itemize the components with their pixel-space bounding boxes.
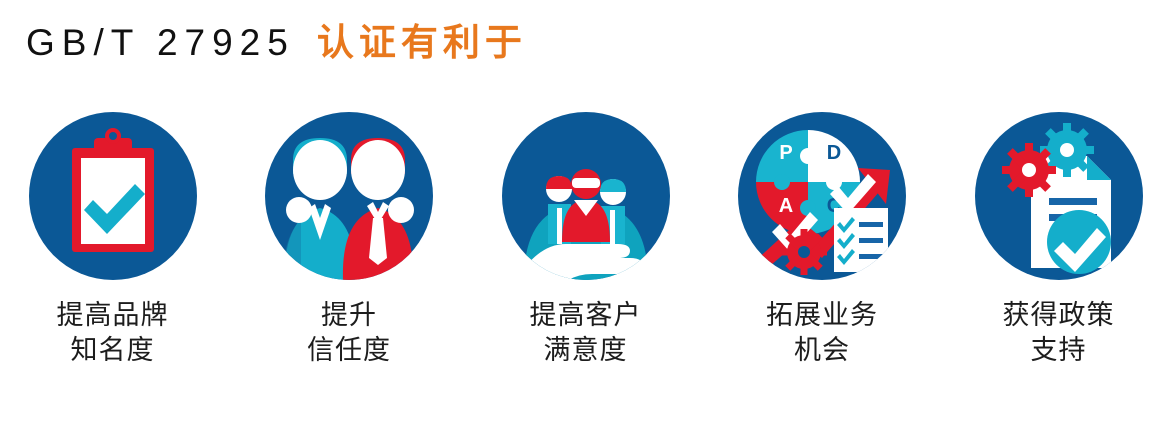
pdca-growth-chart-icon: P D A C (738, 112, 906, 280)
benefit-item-policy-support[interactable]: 获得政策 支持 (966, 112, 1151, 367)
benefit-item-brand-awareness[interactable]: 提高品牌 知名度 (20, 112, 205, 367)
pdca-letter-d: D (827, 142, 841, 164)
benefit-label: 提高品牌 知名度 (57, 298, 169, 367)
title-standard-number: GB/T 27925 (26, 22, 295, 64)
benefit-item-customer-satisfaction[interactable]: 提高客户 满意度 (493, 112, 678, 367)
benefit-label: 提升 信任度 (307, 298, 391, 367)
benefit-item-trust[interactable]: 提升 信任度 (257, 112, 442, 367)
title-accent-text: 认证有利于 (317, 12, 527, 66)
pdca-letter-a: A (779, 195, 793, 217)
benefit-label: 提高客户 满意度 (530, 298, 642, 367)
document-gears-check-icon (975, 112, 1143, 280)
benefits-row: 提高品牌 知名度 (0, 112, 1171, 367)
hand-holding-people-icon (502, 112, 670, 280)
benefit-label: 拓展业务 机会 (766, 298, 878, 367)
benefit-label: 获得政策 支持 (1003, 298, 1115, 367)
benefit-item-business-opportunity[interactable]: P D A C (730, 112, 915, 367)
page-title: GB/T 27925 认证有利于 (26, 12, 527, 66)
clipboard-check-icon (29, 112, 197, 280)
two-businesspeople-icon (265, 112, 433, 280)
pdca-letter-p: P (779, 142, 792, 164)
